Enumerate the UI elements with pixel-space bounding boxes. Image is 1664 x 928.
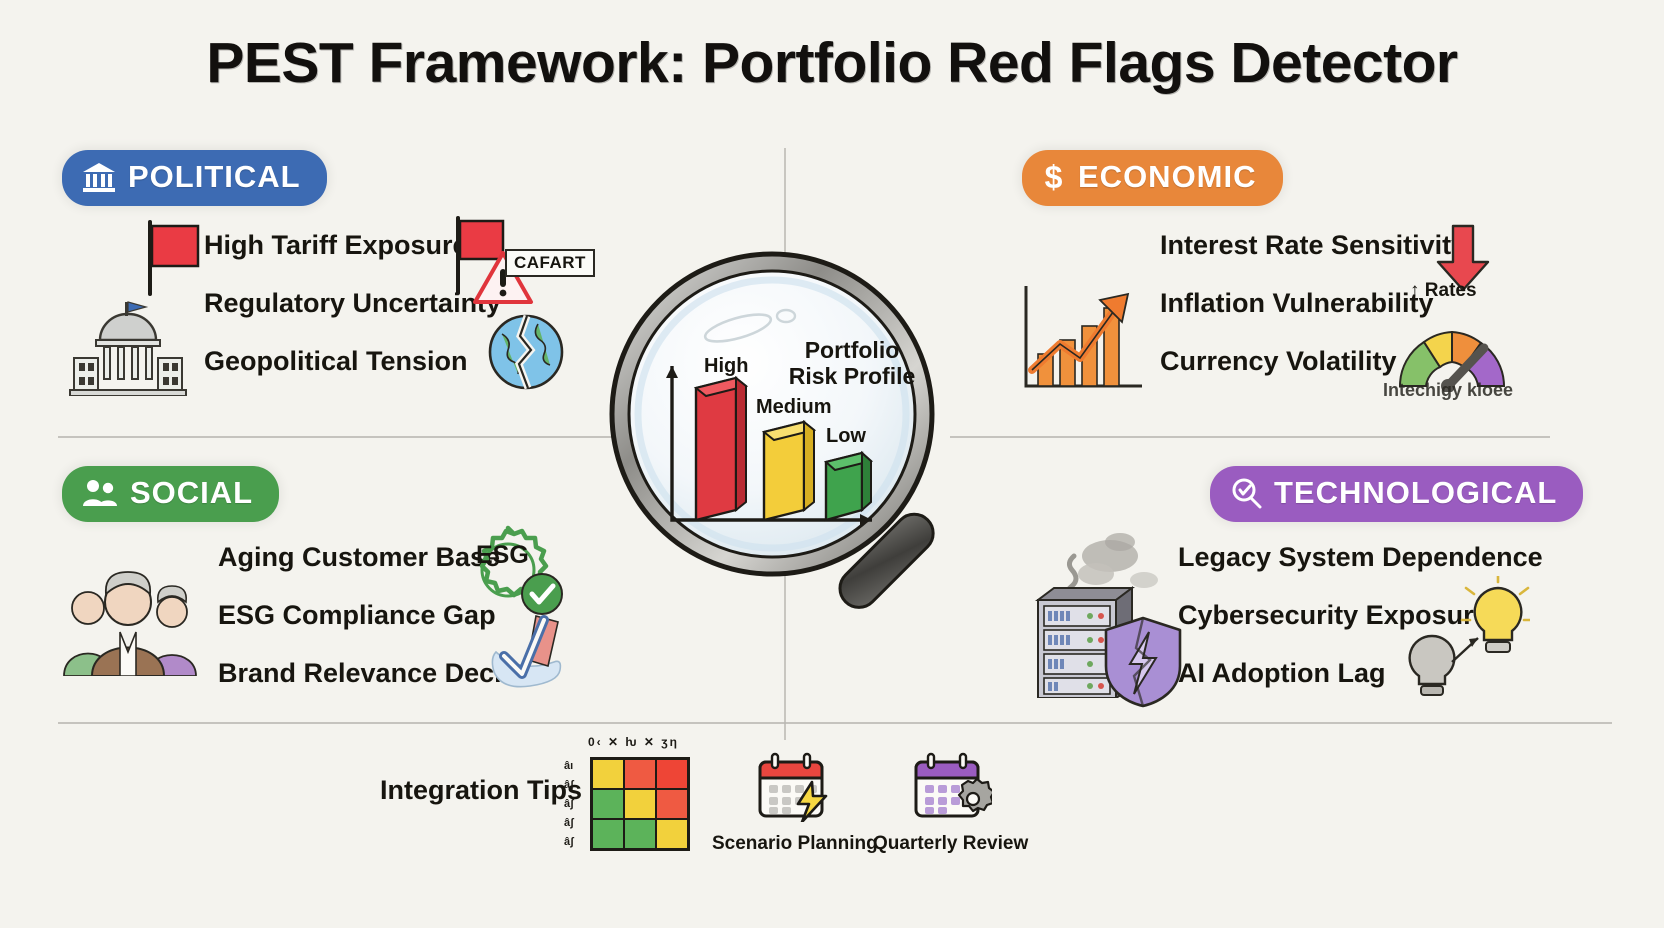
calendar-gear-icon — [910, 752, 992, 827]
elderly-people-icon — [60, 566, 200, 681]
bank-icon — [82, 161, 116, 193]
list-item: Geopolitical Tension — [204, 348, 501, 375]
magnifier-chart — [600, 246, 1000, 636]
cafart-annotation: CAFART — [505, 249, 595, 277]
magnifier-icon — [1230, 477, 1262, 509]
tip-quarterly-review[interactable]: Quarterly Review — [873, 752, 1028, 855]
badge-social[interactable]: SOCIAL — [62, 466, 279, 522]
cracked-shield-icon — [1100, 614, 1186, 715]
badge-economic[interactable]: $ ECONOMIC — [1022, 150, 1283, 206]
integration-tips-label: Integration Tips — [380, 775, 582, 806]
check-badge-icon — [482, 608, 574, 695]
chart-title: Portfolio Risk Profile — [782, 338, 922, 390]
cracked-globe-icon — [486, 312, 566, 397]
lightbulb-icon — [1400, 576, 1530, 701]
heatmap-row-tag: âʃ — [564, 833, 574, 852]
heatmap-cell — [592, 819, 624, 849]
badge-technological-label: TECHNOLOGICAL — [1274, 475, 1557, 511]
badge-economic-label: ECONOMIC — [1078, 159, 1257, 195]
red-flag-icon — [138, 218, 208, 303]
badge-social-label: SOCIAL — [130, 475, 253, 511]
list-item: Interest Rate Sensitivity — [1160, 232, 1466, 259]
tip-label: Quarterly Review — [873, 833, 1028, 855]
tip-label: Scenario Planning — [712, 833, 878, 855]
svg-text:$: $ — [1045, 160, 1064, 194]
horizontal-divider-left — [58, 436, 618, 438]
list-item: Legacy System Dependence — [1178, 544, 1543, 571]
heatmap-cell — [592, 789, 624, 819]
badge-political[interactable]: POLITICAL — [62, 150, 327, 206]
heatmap-cell — [624, 759, 656, 789]
heatmap-grid — [590, 757, 690, 851]
people-icon — [82, 478, 118, 508]
badge-technological[interactable]: TECHNOLOGICAL — [1210, 466, 1583, 522]
horizontal-divider-right — [950, 436, 1550, 438]
gauge-annotation: Intechigy kloee — [1383, 380, 1513, 401]
heatmap-cell — [656, 789, 688, 819]
heatmap-row-tag: âʃ — [564, 795, 574, 814]
esg-seal-label: ESG — [476, 541, 529, 570]
tip-scenario-planning[interactable]: Scenario Planning — [712, 752, 878, 855]
bar-label-high: High — [704, 355, 748, 378]
heatmap-column-tags: 0‹ ✕ ƕ ✕ ʒη — [588, 735, 698, 749]
heatmap-cell — [624, 789, 656, 819]
page-title: PEST Framework: Portfolio Red Flags Dete… — [0, 30, 1664, 96]
heatmap-row-tag: âʃ — [564, 776, 574, 795]
chart-title-line1: Portfolio — [805, 337, 900, 363]
heatmap-row-tag: âı — [564, 757, 574, 776]
rising-bar-chart-icon — [1016, 282, 1146, 403]
heatmap-row-tags: âı âʃ âʃ âʃ âʃ — [564, 757, 574, 852]
calendar-bolt-icon — [754, 752, 836, 827]
bar-label-low: Low — [826, 425, 866, 448]
rates-annotation: ↑ Rates — [1410, 280, 1477, 302]
chart-title-line2: Risk Profile — [789, 363, 916, 389]
list-item: Currency Volatility — [1160, 348, 1397, 375]
list-item: Inflation Vulnerability — [1160, 290, 1434, 317]
heatmap-cell — [624, 819, 656, 849]
heatmap-cell — [656, 759, 688, 789]
badge-political-label: POLITICAL — [128, 159, 301, 195]
heatmap-cell — [592, 759, 624, 789]
heatmap-row-tag: âʃ — [564, 814, 574, 833]
dollar-icon: $ — [1042, 160, 1066, 194]
infographic-canvas: PEST Framework: Portfolio Red Flags Dete… — [0, 0, 1664, 928]
bar-label-medium: Medium — [756, 396, 832, 419]
heatmap-cell — [656, 819, 688, 849]
horizontal-divider-bottom — [58, 722, 1612, 724]
government-building-icon — [66, 300, 190, 401]
